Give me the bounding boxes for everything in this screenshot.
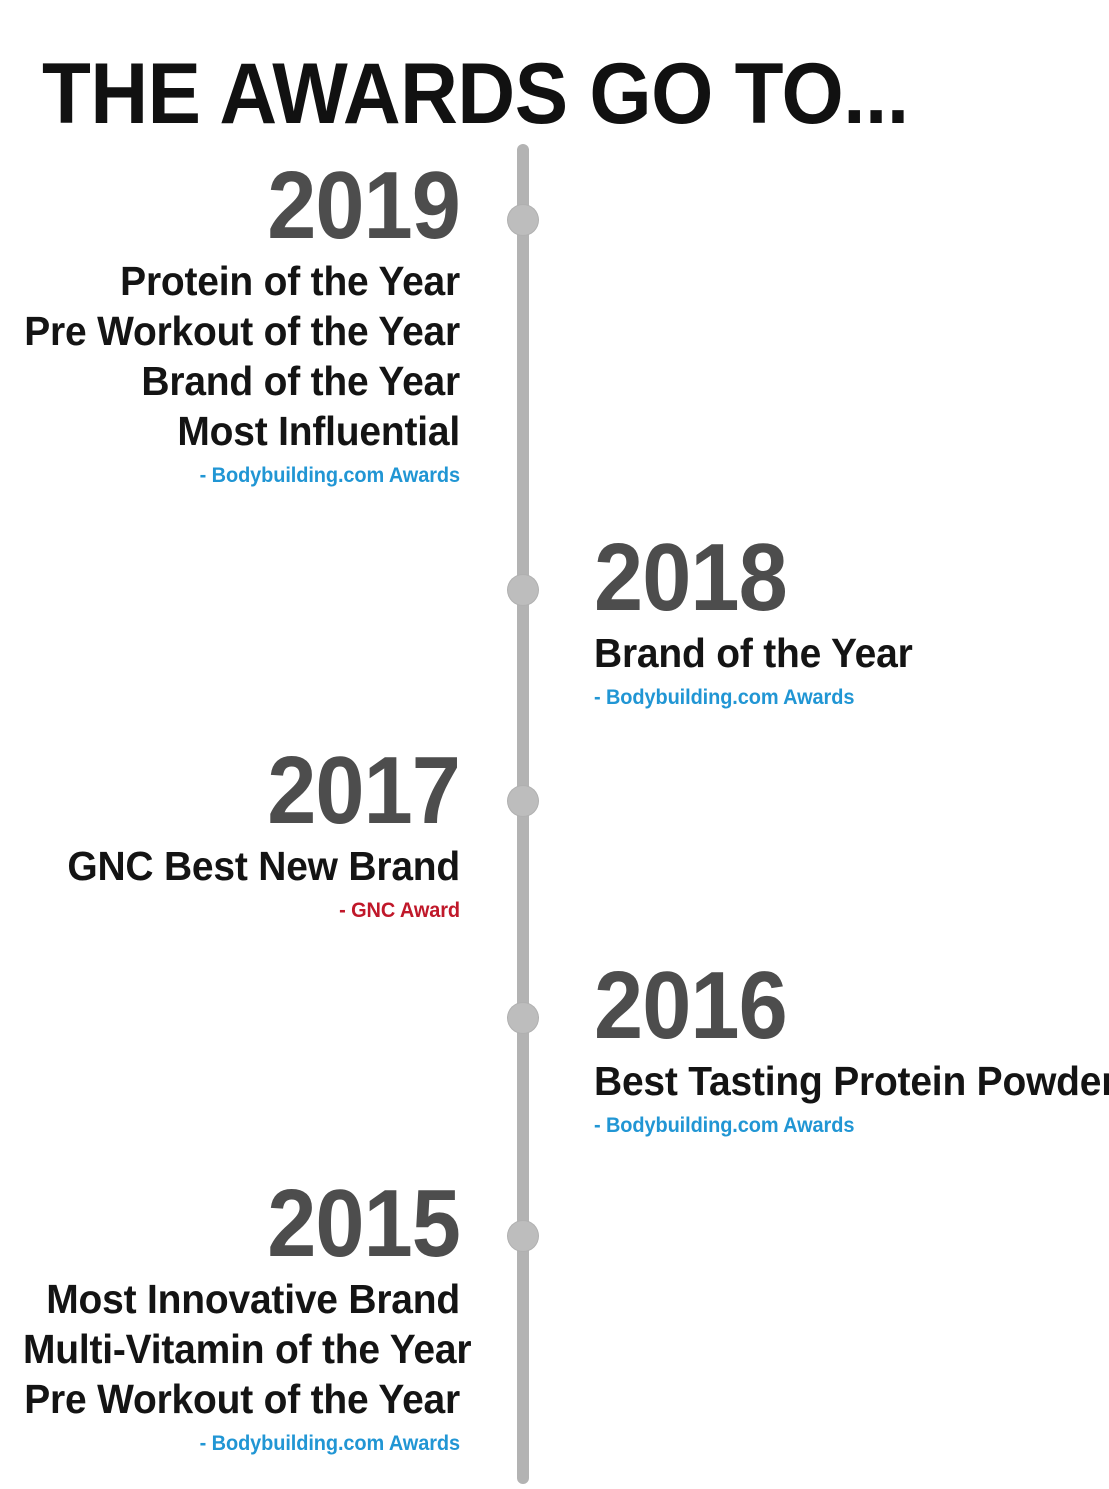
award-item: Most Innovative Brand — [23, 1274, 460, 1324]
award-item: Brand of the Year — [594, 628, 1031, 678]
award-item: Brand of the Year — [23, 356, 460, 406]
award-item: Pre Workout of the Year — [23, 1374, 460, 1424]
milestone-2016: 2016 Best Tasting Protein Powder - Bodyb… — [594, 962, 1109, 1140]
award-item: Multi-Vitamin of the Year — [23, 1324, 460, 1374]
award-list: Protein of the Year Pre Workout of the Y… — [0, 256, 460, 456]
award-list: Best Tasting Protein Powder — [594, 1056, 1109, 1106]
milestone-year: 2019 — [37, 162, 460, 250]
award-attribution: - Bodybuilding.com Awards — [23, 462, 460, 489]
milestone-year: 2015 — [37, 1180, 460, 1268]
timeline-dot-2017 — [508, 786, 538, 816]
milestone-2018: 2018 Brand of the Year - Bodybuilding.co… — [594, 534, 1054, 712]
award-item: Protein of the Year — [23, 256, 460, 306]
milestone-2017: 2017 GNC Best New Brand - GNC Award — [0, 747, 460, 925]
award-item: Best Tasting Protein Powder — [594, 1056, 1083, 1106]
award-list: Most Innovative Brand Multi-Vitamin of t… — [0, 1274, 460, 1424]
timeline-dot-2015 — [508, 1221, 538, 1251]
award-list: Brand of the Year — [594, 628, 1054, 678]
award-item: Most Influential — [23, 406, 460, 456]
award-attribution: - GNC Award — [23, 897, 460, 924]
award-list: GNC Best New Brand — [0, 841, 460, 891]
page-title: THE AWARDS GO TO... — [42, 51, 909, 137]
milestone-2019: 2019 Protein of the Year Pre Workout of … — [0, 162, 460, 490]
award-item: GNC Best New Brand — [23, 841, 460, 891]
award-item: Pre Workout of the Year — [23, 306, 460, 356]
award-attribution: - Bodybuilding.com Awards — [594, 684, 1031, 711]
milestone-year: 2017 — [37, 747, 460, 835]
timeline-dot-2019 — [508, 205, 538, 235]
milestone-year: 2018 — [594, 534, 1017, 622]
timeline-dot-2016 — [508, 1003, 538, 1033]
award-attribution: - Bodybuilding.com Awards — [594, 1112, 1083, 1139]
timeline-dot-2018 — [508, 575, 538, 605]
award-attribution: - Bodybuilding.com Awards — [23, 1430, 460, 1457]
milestone-year: 2016 — [594, 962, 1068, 1050]
milestone-2015: 2015 Most Innovative Brand Multi-Vitamin… — [0, 1180, 460, 1458]
